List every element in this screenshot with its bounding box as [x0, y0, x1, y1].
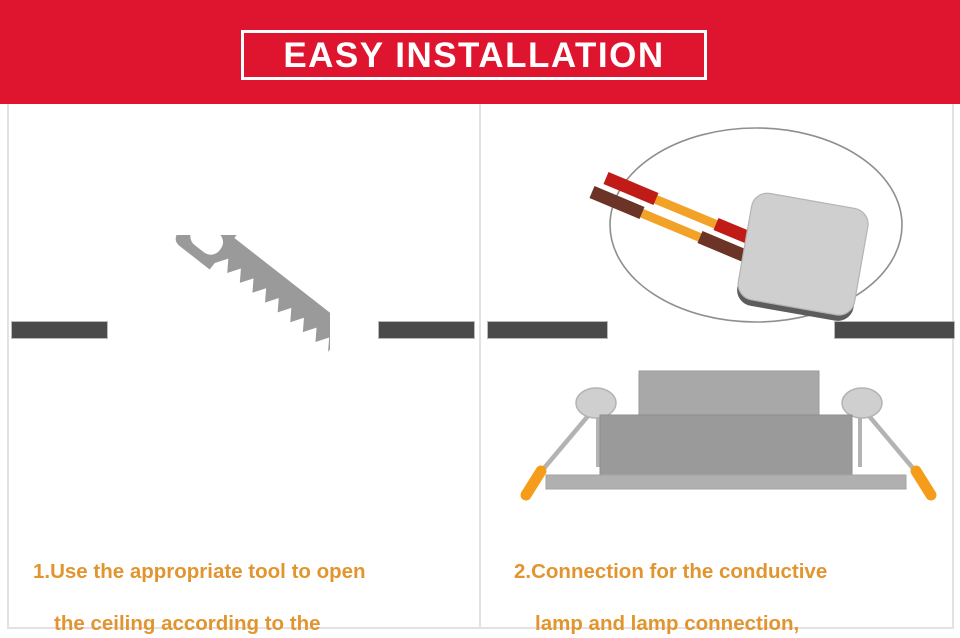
header-banner: EASY INSTALLATION	[0, 0, 960, 104]
easy-installation-infographic: EASY INSTALLATION	[0, 0, 960, 638]
hand-saw-icon	[100, 235, 330, 500]
ceiling-bar-right-panel1	[378, 321, 475, 339]
wire-upper-red-segment	[606, 178, 656, 199]
spring-clip-right	[842, 388, 931, 495]
caption-step-2-line-2: lamp and lamp connection,	[514, 611, 944, 637]
wire-upper-orange	[614, 182, 756, 241]
caption-step-1-line-1: 1.Use the appropriate tool to open	[33, 560, 366, 583]
ceiling-bar-left-panel1	[11, 321, 108, 339]
spring-clip-right-tip	[916, 471, 931, 495]
frame-border-left	[7, 104, 9, 629]
spring-clip-left-tip	[526, 471, 541, 495]
caption-step-2: 2.Connection for the conductive lamp and…	[514, 533, 944, 638]
caption-step-1-line-2: the ceiling according to the	[33, 611, 463, 637]
lamp-top-housing	[639, 371, 819, 419]
caption-step-1: 1.Use the appropriate tool to open the c…	[33, 533, 463, 638]
panel-divider	[479, 104, 481, 629]
downlight-fixture-illustration	[508, 355, 938, 515]
spring-clip-left	[526, 388, 616, 495]
ceiling-bar-right-panel2	[834, 321, 955, 339]
frame-border-right	[952, 104, 954, 629]
wire-lower-brown-segment	[592, 192, 642, 213]
lamp-flange-plate	[546, 475, 906, 489]
magnifier-ellipse	[610, 128, 902, 322]
lamp-body	[600, 415, 852, 475]
banner-title-box: EASY INSTALLATION	[241, 30, 707, 80]
wire-connection-illustration	[556, 125, 960, 340]
connector-block	[735, 191, 871, 324]
wire-upper-red-segment-near-block	[716, 224, 764, 244]
page-title: EASY INSTALLATION	[283, 38, 664, 73]
caption-step-2-line-1: 2.Connection for the conductive	[514, 560, 827, 583]
wire-lower-brown-segment-near-block	[700, 237, 750, 258]
ceiling-bar-left-panel2	[487, 321, 608, 339]
wire-lower-orange	[598, 195, 742, 255]
